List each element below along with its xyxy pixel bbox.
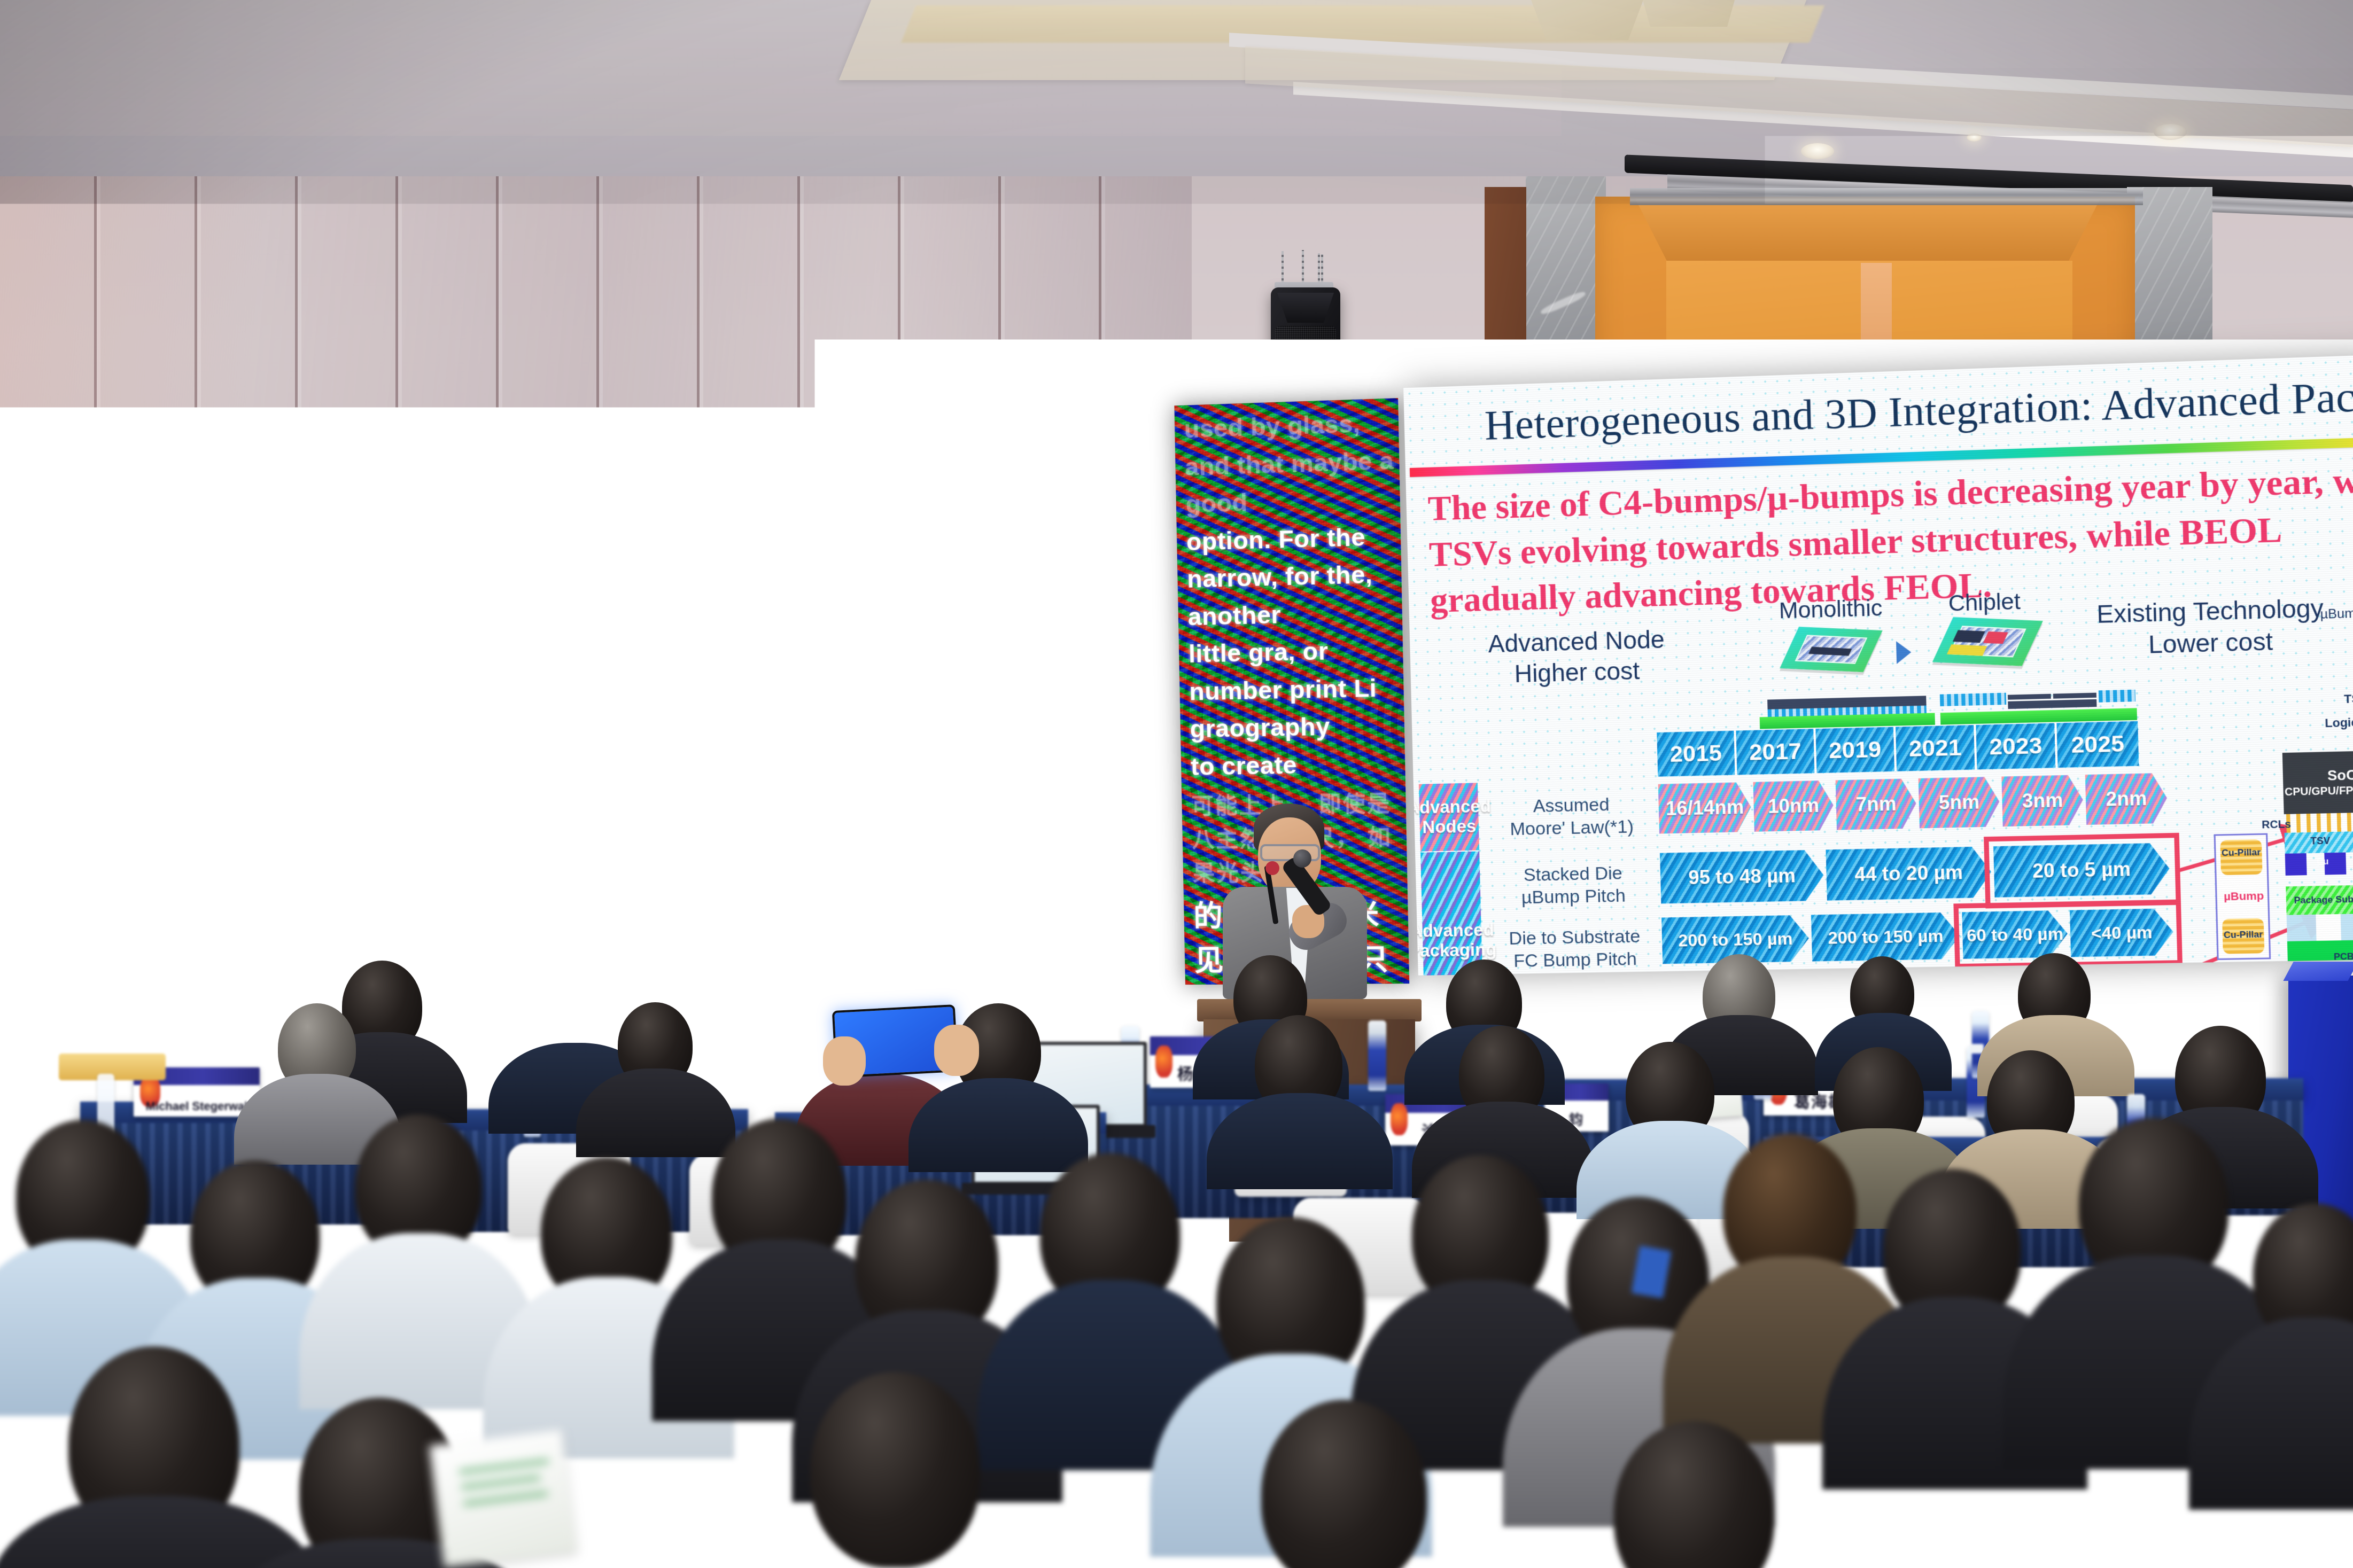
led-en-line-3: to create bbox=[1190, 744, 1400, 785]
speaker-horn bbox=[1277, 293, 1334, 323]
ceiling-pendant-light-2 bbox=[1635, 0, 1742, 27]
slide-scanlines bbox=[1403, 355, 2353, 976]
wall-speaker bbox=[1271, 287, 1340, 379]
door-header-reveal bbox=[1635, 199, 2100, 263]
hand bbox=[823, 1036, 866, 1086]
ceiling-downlight-1 bbox=[1801, 143, 1834, 159]
column-speaker-badge bbox=[874, 977, 892, 993]
hand bbox=[934, 1025, 979, 1076]
presentation-slide: Heterogeneous and 3D Integration: Advanc… bbox=[1403, 355, 2353, 976]
microphone-head bbox=[1293, 849, 1311, 868]
led-en-line-2: little gra, or number print Li graograph… bbox=[1188, 631, 1399, 748]
speaker-chain-2 bbox=[1302, 250, 1304, 284]
speaker-chain-3 bbox=[1318, 253, 1320, 284]
stage-blue-block-top bbox=[2283, 962, 2353, 981]
water-bottle bbox=[1368, 1020, 1386, 1091]
speaker-brand-badge bbox=[1298, 365, 1314, 373]
led-en-line-1: option. For the narrow, for the, another bbox=[1186, 517, 1397, 635]
conference-hall-photo: used by glass, and that maybe a good opt… bbox=[0, 0, 2353, 1568]
microphone-windscreen bbox=[1265, 861, 1279, 875]
ceiling-downlight-2 bbox=[1967, 134, 1982, 142]
ceiling-downlight-3 bbox=[2154, 124, 2187, 140]
column-speaker bbox=[847, 758, 918, 1035]
attendee-head bbox=[810, 1372, 980, 1567]
door-head-metal-strip bbox=[1630, 188, 2143, 205]
speaker-chain-4 bbox=[1321, 254, 1323, 284]
speaker-chain-1 bbox=[1282, 251, 1284, 284]
led-en-line-0: used by glass, and that maybe a good bbox=[1184, 404, 1395, 523]
stage-spotlight-lower bbox=[230, 532, 400, 654]
